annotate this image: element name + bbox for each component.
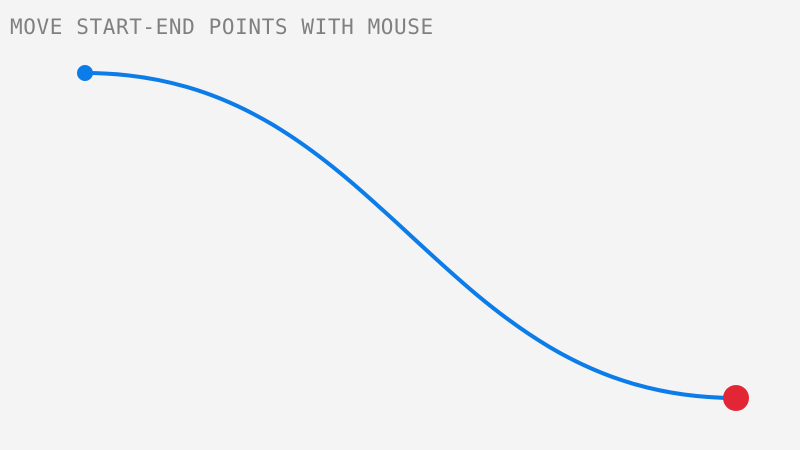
curve-stage[interactable] xyxy=(0,0,800,450)
end-point-handle[interactable] xyxy=(723,385,749,411)
bezier-editor-canvas[interactable]: MOVE START-END POINTS WITH MOUSE xyxy=(0,0,800,450)
bezier-curve xyxy=(85,73,736,398)
start-point-handle[interactable] xyxy=(77,65,93,81)
